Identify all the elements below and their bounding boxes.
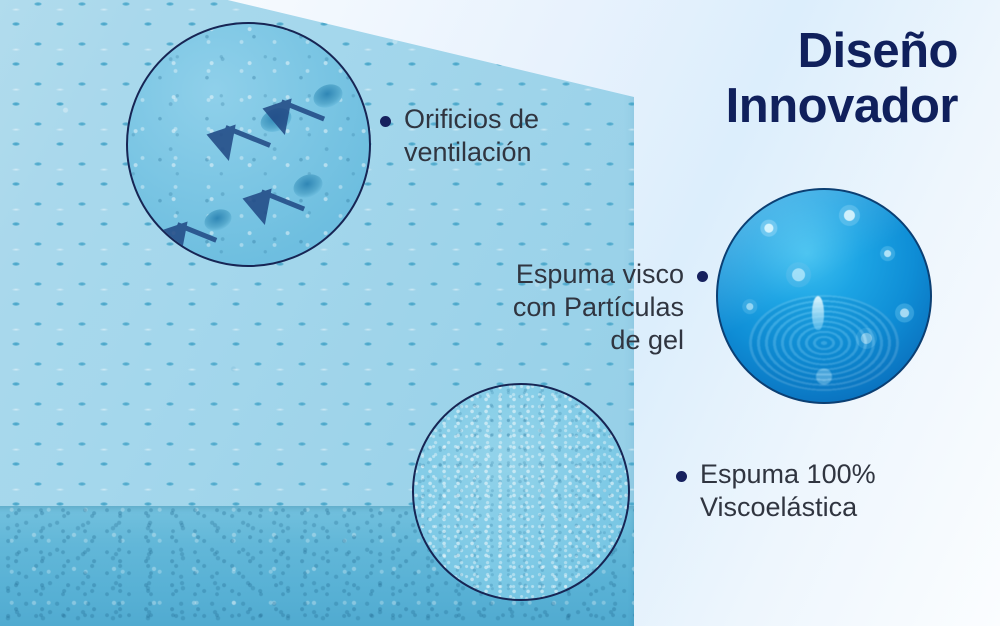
headline-line-2: Innovador <box>538 79 958 134</box>
foam-pore-texture <box>414 385 628 599</box>
feature-label-text: Espuma 100% Viscoelástica <box>700 458 876 524</box>
bullet-icon <box>676 471 687 482</box>
feature-label-viscoelastica: Espuma 100% Viscoelástica <box>676 458 876 524</box>
page-title: Diseño Innovador <box>538 24 958 135</box>
ventilation-holes-closeup <box>126 22 371 267</box>
feature-label-ventilacion: Orificios de ventilación <box>380 103 539 169</box>
feature-label-gel: Espuma visco con Partículas de gel <box>513 258 708 357</box>
bullet-icon <box>697 271 708 282</box>
headline-line-1: Diseño <box>538 24 958 79</box>
bullet-icon <box>380 116 391 127</box>
airflow-arrows-icon <box>128 24 371 267</box>
gel-particles-closeup <box>716 188 932 404</box>
product-feature-poster: Diseño Innovador Orificios de ventilació… <box>0 0 1000 626</box>
gel-sheen-highlight <box>718 190 930 402</box>
feature-label-text: Espuma visco con Partículas de gel <box>513 258 684 357</box>
viscoelastic-foam-closeup <box>412 383 630 601</box>
feature-label-text: Orificios de ventilación <box>404 103 539 169</box>
